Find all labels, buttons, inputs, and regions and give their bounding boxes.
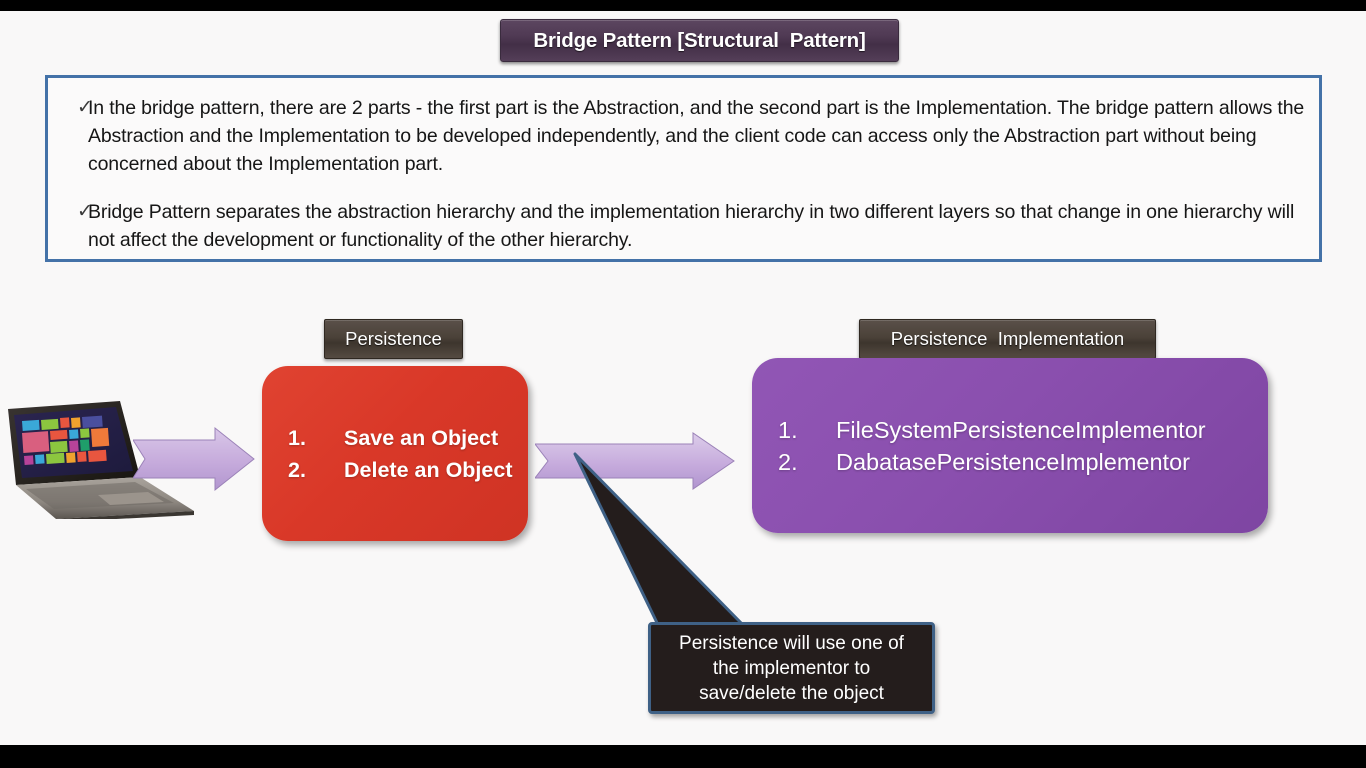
list-item-label: Save an Object <box>344 422 528 454</box>
flow-arrow-client-to-abstraction <box>133 426 255 492</box>
abstraction-header-chip: Persistence <box>324 319 463 359</box>
callout-line-3: save/delete the object <box>699 681 884 706</box>
list-item: 2. Delete an Object <box>288 454 528 486</box>
description-bullet-text: Bridge Pattern separates the abstraction… <box>88 198 1305 254</box>
callout-note: Persistence will use one of the implemen… <box>648 622 935 714</box>
implementation-box: 1. FileSystemPersistenceImplementor 2. D… <box>752 358 1268 533</box>
list-item-label: Delete an Object <box>344 454 528 486</box>
list-item-number: 1. <box>778 414 836 446</box>
description-bullet: ✓ In the bridge pattern, there are 2 par… <box>62 94 1305 178</box>
list-item-label: DabatasePersistenceImplementor <box>836 446 1268 478</box>
letterbox-top <box>0 0 1366 11</box>
letterbox-bottom <box>0 745 1366 768</box>
callout-line-2: the implementor to <box>713 656 870 681</box>
description-bullet-text: In the bridge pattern, there are 2 parts… <box>88 94 1305 178</box>
list-item-label: FileSystemPersistenceImplementor <box>836 414 1268 446</box>
implementation-header-chip: Persistence Implementation <box>859 319 1156 359</box>
slide-title-banner: Bridge Pattern [Structural Pattern] <box>500 19 899 62</box>
implementation-item-list: 1. FileSystemPersistenceImplementor 2. D… <box>752 414 1268 478</box>
list-item-number: 1. <box>288 422 344 454</box>
abstraction-header-text: Persistence <box>345 328 442 350</box>
list-item: 1. FileSystemPersistenceImplementor <box>778 414 1268 446</box>
list-item: 1. Save an Object <box>288 422 528 454</box>
callout-line-1: Persistence will use one of <box>679 631 904 656</box>
abstraction-item-list: 1. Save an Object 2. Delete an Object <box>262 422 528 486</box>
description-bullet: ✓ Bridge Pattern separates the abstracti… <box>62 198 1305 254</box>
abstraction-box: 1. Save an Object 2. Delete an Object <box>262 366 528 541</box>
slide-canvas: Bridge Pattern [Structural Pattern] ✓ In… <box>0 11 1366 745</box>
implementation-header-text: Persistence Implementation <box>891 328 1124 350</box>
list-item-number: 2. <box>288 454 344 486</box>
description-panel: ✓ In the bridge pattern, there are 2 par… <box>45 75 1322 262</box>
checkmark-icon: ✓ <box>62 94 88 122</box>
callout-pointer <box>565 451 825 636</box>
list-item: 2. DabatasePersistenceImplementor <box>778 446 1268 478</box>
checkmark-icon: ✓ <box>62 198 88 226</box>
slide-title-text: Bridge Pattern [Structural Pattern] <box>533 29 865 53</box>
